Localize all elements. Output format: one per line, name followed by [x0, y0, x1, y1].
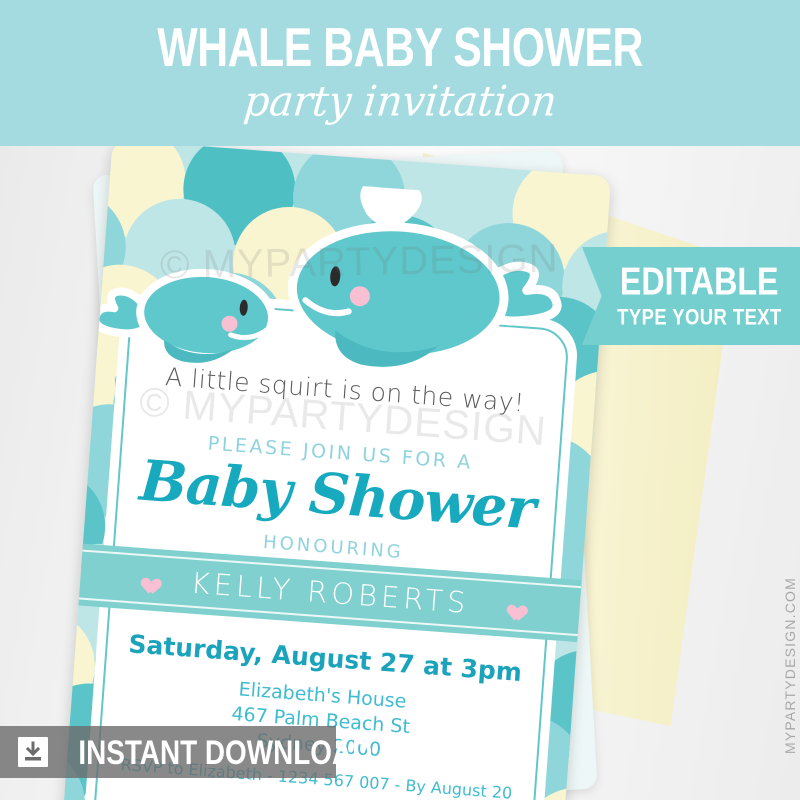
- heart-icon: [503, 597, 523, 615]
- invitation-copy: A little squirt is on the way! PLEASE JO…: [62, 140, 611, 800]
- heart-icon: [137, 570, 157, 588]
- editable-ribbon: EDITABLE TYPE YOUR TEXT: [582, 247, 800, 345]
- header-subtitle: party invitation: [242, 81, 559, 123]
- product-listing-image: © MYPARTYDESIGN: [0, 0, 800, 800]
- tagline-text: A little squirt is on the way!: [95, 357, 596, 423]
- type-your-text-label: TYPE YOUR TEXT: [617, 307, 782, 329]
- watermark-side: MYPARTYDESIGN.COM: [782, 577, 798, 754]
- editable-label: EDITABLE: [620, 262, 779, 301]
- header-banner: WHALE BABY SHOWER party invitation: [0, 0, 800, 146]
- download-icon: [18, 737, 48, 767]
- header-title: WHALE BABY SHOWER: [157, 20, 643, 74]
- invitation-card: © MYPARTYDESIGN: [62, 140, 611, 800]
- instant-download-badge: INSTANT DOWNLOAD: [0, 726, 336, 778]
- instant-download-label: INSTANT DOWNLOAD: [78, 735, 372, 769]
- honoree-name: KELLY ROBERTS: [190, 566, 471, 620]
